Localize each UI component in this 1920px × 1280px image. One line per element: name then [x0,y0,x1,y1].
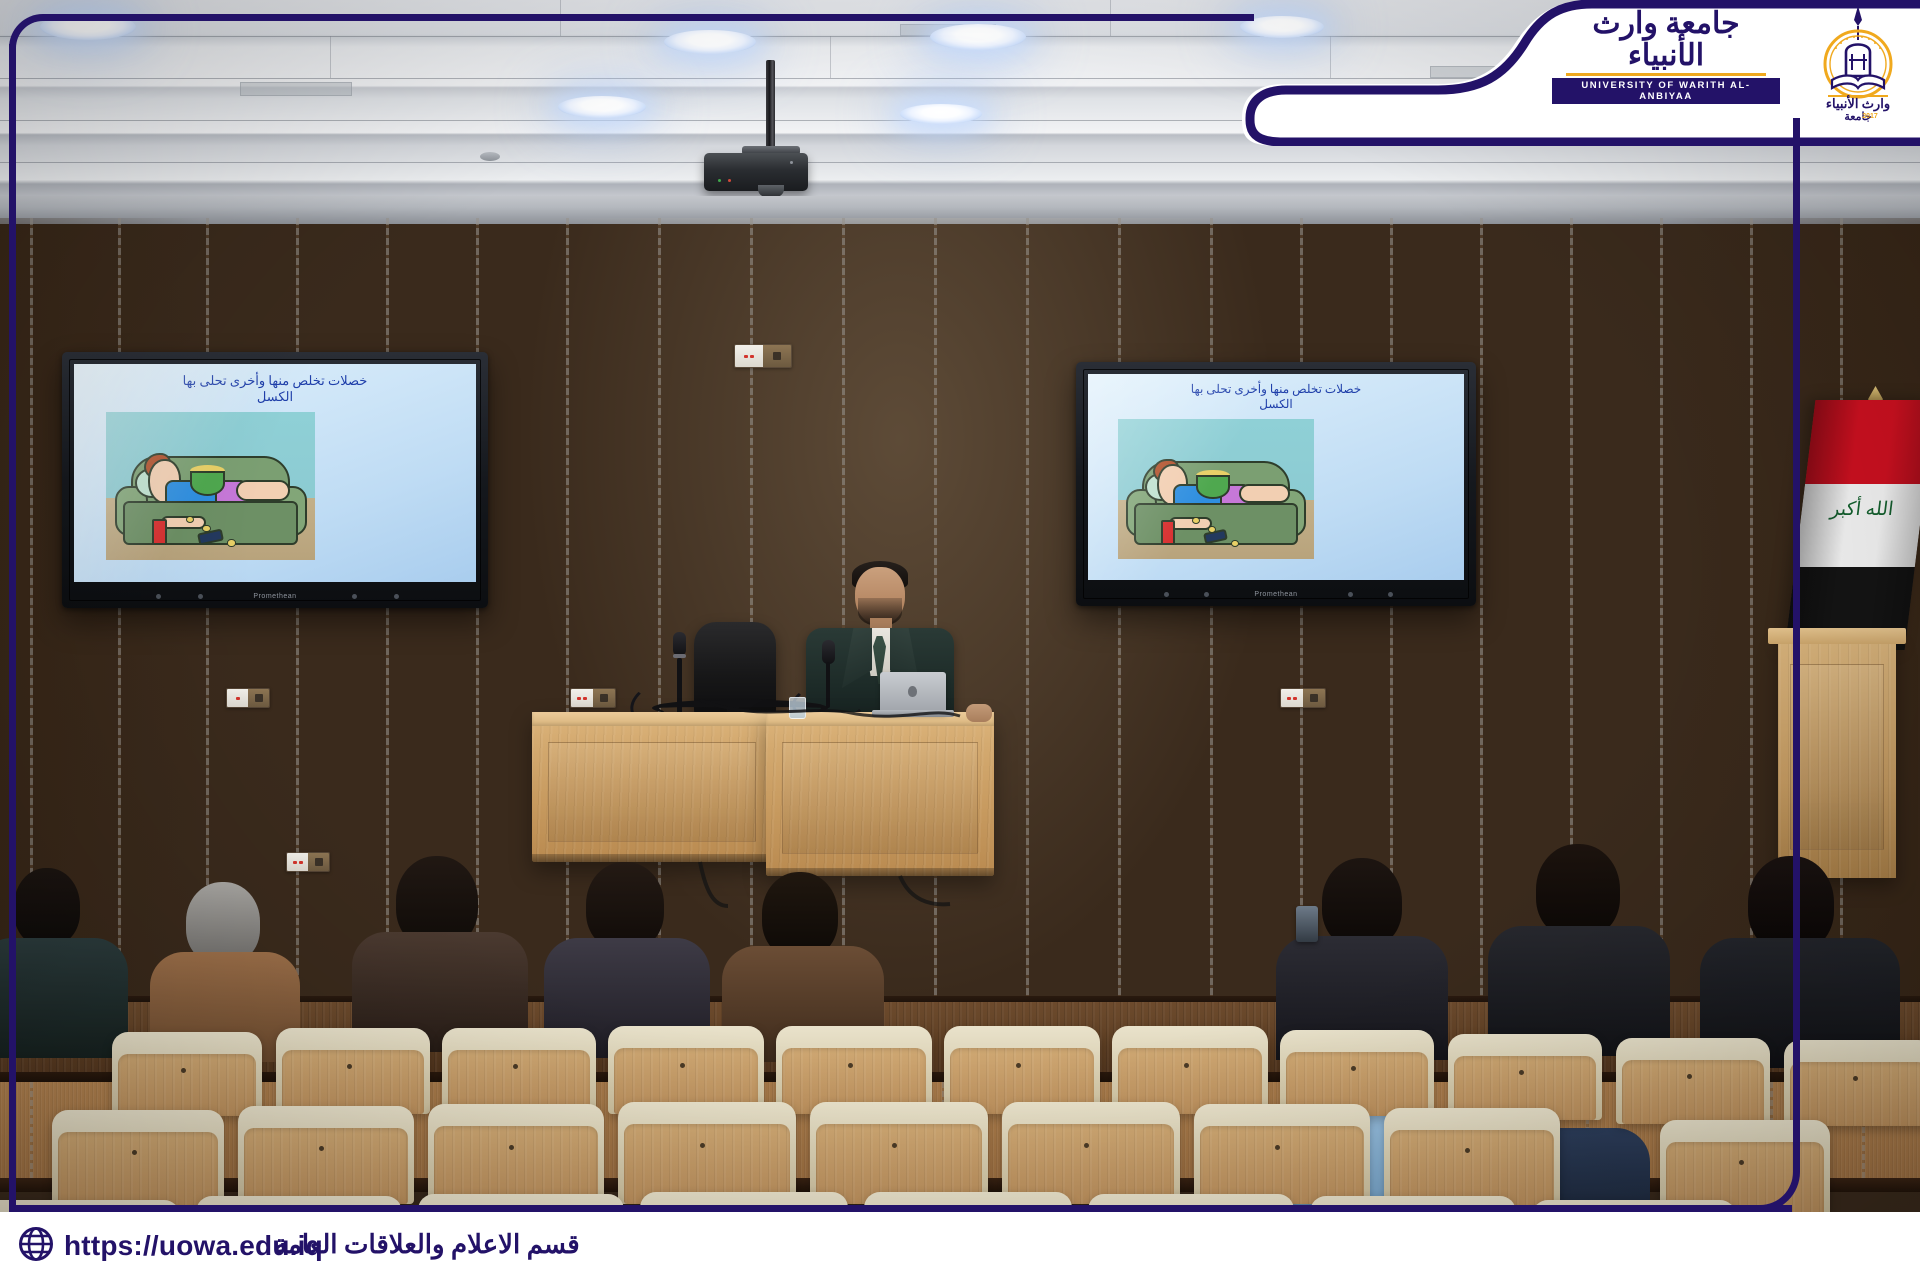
wordmark-underline [1566,73,1766,76]
auditorium-seat[interactable] [428,1104,604,1204]
attendee-head [586,862,664,950]
auditorium-seat[interactable] [238,1106,414,1204]
svg-text:2017: 2017 [1862,113,1878,120]
auditorium-seat[interactable] [1112,1026,1268,1114]
attendee-shoulders [0,938,128,1058]
svg-text:وارث الأنبياء: وارث الأنبياء [1826,95,1890,112]
university-crest: وارث الأنبياء جامعة 2017 [1816,4,1900,124]
photo-card: خصلات تخلص منها وأخرى تحلى بها الكسل الك… [0,0,1920,1280]
attendee-head [14,868,80,946]
auditorium-seat[interactable] [276,1028,430,1114]
auditorium-seat[interactable] [810,1102,988,1204]
globe-icon [18,1226,54,1262]
auditorium-seat[interactable] [776,1026,932,1114]
auditorium-seat[interactable] [112,1032,262,1116]
attendee-head [1536,844,1620,938]
auditorium-seat[interactable] [608,1026,764,1114]
auditorium-seat[interactable] [442,1028,596,1114]
university-name-english: UNIVERSITY OF WARITH AL-ANBIYAA [1552,78,1780,104]
auditorium-seat[interactable] [1002,1102,1180,1204]
auditorium-seat[interactable] [1194,1104,1370,1204]
attendee-phone [1296,906,1318,942]
auditorium-seat[interactable] [1384,1108,1560,1206]
lecture-hall-photo: خصلات تخلص منها وأخرى تحلى بها الكسل الك… [0,0,1920,1232]
auditorium-seat[interactable] [944,1026,1100,1114]
auditorium-seat[interactable] [618,1102,796,1204]
auditorium-seat[interactable] [52,1110,224,1206]
department-label: قسم الاعلام والعلاقات العامة [274,1230,580,1260]
university-wordmark: جامعة وارث الأنبياء UNIVERSITY OF WARITH… [1552,8,1780,70]
auditorium-seat[interactable] [1784,1040,1920,1126]
auditorium-seat[interactable] [1616,1038,1770,1124]
attendee-head [1322,858,1402,948]
university-name-arabic: جامعة وارث الأنبياء [1552,8,1780,71]
